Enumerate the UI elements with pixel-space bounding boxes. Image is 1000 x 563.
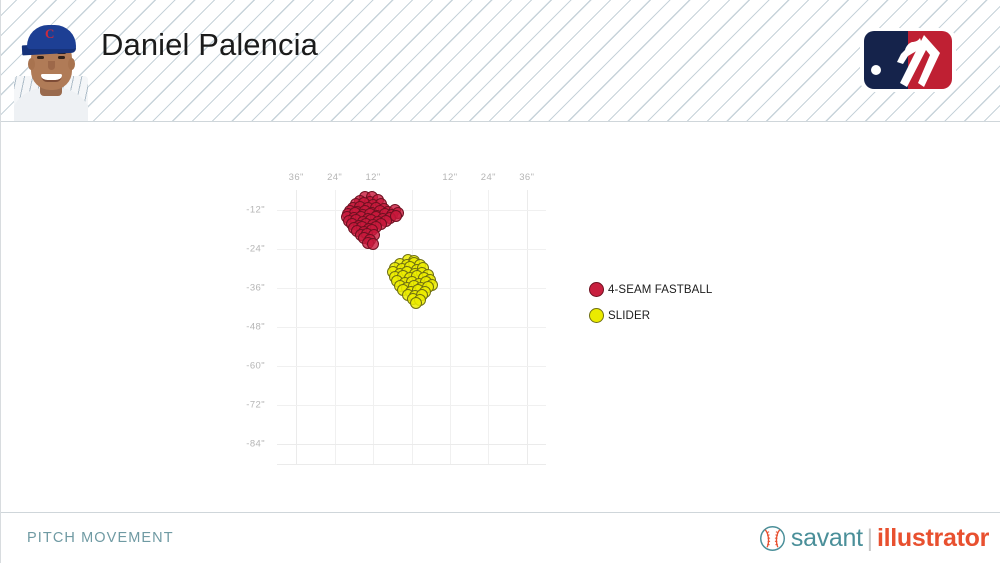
pitch-movement-card: C Daniel Palencia 36"24"12"12"24"36"-12"…: [0, 0, 1000, 563]
chart-area: 36"24"12"12"24"36"-12"-24"-36"-48"-60"-7…: [1, 122, 1000, 512]
y-axis-tick-label: -36": [246, 282, 265, 293]
player-headshot: C: [14, 14, 88, 122]
mlb-logo: [860, 26, 956, 94]
legend-swatch-icon: [589, 308, 604, 323]
x-axis-tick-label: 24": [481, 172, 496, 183]
cap-logo-letter: C: [45, 27, 54, 40]
x-axis-tick-label: 12": [365, 172, 380, 183]
y-axis-tick-label: -72": [246, 400, 265, 411]
legend-item-label: SLIDER: [608, 310, 650, 322]
y-axis-tick-label: -24": [246, 243, 265, 254]
legend-item-slider[interactable]: SLIDER: [589, 308, 712, 323]
gridline-horizontal: [277, 366, 546, 367]
savant-illustrator-brand[interactable]: savant | illustrator: [759, 524, 989, 553]
gridline-horizontal: [277, 327, 546, 328]
gridline-horizontal: [277, 210, 546, 211]
brand-separator: |: [867, 525, 873, 553]
legend-swatch-icon: [589, 282, 604, 297]
x-axis-tick-label: 24": [327, 172, 342, 183]
page-title: Daniel Palencia: [101, 27, 318, 63]
chart-legend: 4-SEAM FASTBALL SLIDER: [589, 282, 712, 334]
header-bar: C Daniel Palencia: [1, 0, 1000, 122]
pitch-movement-scatter-plot[interactable]: 36"24"12"12"24"36"-12"-24"-36"-48"-60"-7…: [277, 190, 546, 464]
eye-right-shape: [58, 56, 65, 59]
footer-section-label: PITCH MOVEMENT: [27, 530, 174, 546]
y-axis-tick-label: -12": [246, 204, 265, 215]
ear-left-shape: [28, 58, 35, 70]
brand-secondary-text: illustrator: [877, 524, 989, 553]
nose-shape: [48, 61, 55, 70]
y-axis-tick-label: -60": [246, 361, 265, 372]
legend-item-label: 4-SEAM FASTBALL: [608, 284, 712, 296]
gridline-horizontal: [277, 464, 546, 465]
ear-right-shape: [68, 58, 75, 70]
y-axis-tick-label: -84": [246, 439, 265, 450]
eye-left-shape: [37, 56, 44, 59]
x-axis-tick-label: 36": [519, 172, 534, 183]
gridline-horizontal: [277, 249, 546, 250]
data-point-sl[interactable]: [410, 297, 422, 309]
footer-bar: PITCH MOVEMENT savant | illustrator: [1, 512, 1000, 563]
y-axis-tick-label: -48": [246, 322, 265, 333]
brand-primary-text: savant: [791, 524, 863, 553]
data-point-ff[interactable]: [390, 210, 402, 222]
baseball-icon: [759, 525, 786, 552]
legend-item-4-seam-fastball[interactable]: 4-SEAM FASTBALL: [589, 282, 712, 297]
data-point-ff[interactable]: [367, 238, 379, 250]
gridline-horizontal: [277, 444, 546, 445]
mouth-shape: [41, 74, 62, 82]
x-axis-tick-label: 12": [442, 172, 457, 183]
gridline-horizontal: [277, 405, 546, 406]
x-axis-tick-label: 36": [289, 172, 304, 183]
